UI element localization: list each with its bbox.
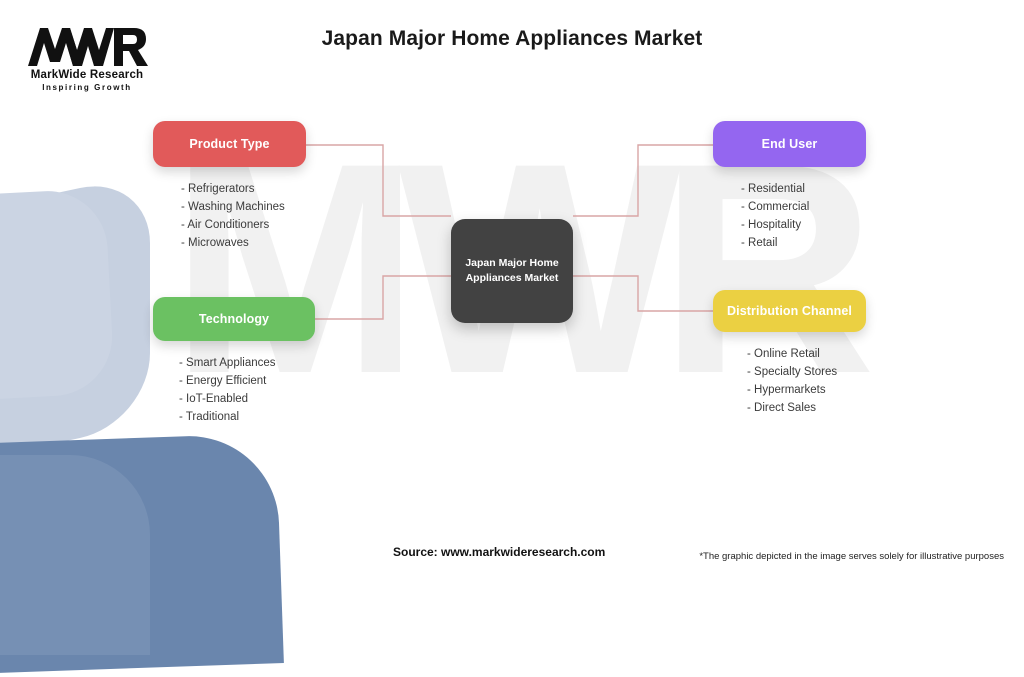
branch-technology-header[interactable]: Technology — [153, 297, 315, 341]
list-item: - Online Retail — [747, 345, 953, 363]
branch-product-type-label: Product Type — [189, 137, 269, 151]
page-title: Japan Major Home Appliances Market — [0, 27, 1024, 51]
branch-technology-label: Technology — [199, 312, 269, 326]
center-node[interactable]: Japan Major Home Appliances Market — [451, 219, 573, 323]
disclaimer-text: *The graphic depicted in the image serve… — [699, 551, 1004, 562]
center-node-line2: Appliances Market — [466, 272, 559, 284]
branch-distribution-channel-header[interactable]: Distribution Channel — [713, 290, 866, 332]
branch-end-user-header[interactable]: End User — [713, 121, 866, 167]
branch-product-type-header[interactable]: Product Type — [153, 121, 306, 167]
list-item: - Retail — [741, 234, 943, 252]
branch-product-type: Product Type - Refrigerators - Washing M… — [153, 121, 383, 252]
branch-distribution-channel-label: Distribution Channel — [727, 304, 852, 318]
branch-end-user-items: - Residential - Commercial - Hospitality… — [713, 180, 943, 252]
branch-distribution-channel: Distribution Channel - Online Retail - S… — [713, 290, 953, 417]
list-item: - Energy Efficient — [179, 372, 383, 390]
list-item: - Microwaves — [181, 234, 383, 252]
list-item: - Direct Sales — [747, 399, 953, 417]
source-text: Source: www.markwideresearch.com — [393, 545, 605, 559]
list-item: - Specialty Stores — [747, 363, 953, 381]
list-item: - Smart Appliances — [179, 354, 383, 372]
branch-technology-items: - Smart Appliances - Energy Efficient - … — [153, 354, 383, 426]
branch-distribution-channel-items: - Online Retail - Specialty Stores - Hyp… — [713, 345, 953, 417]
branch-end-user: End User - Residential - Commercial - Ho… — [713, 121, 943, 252]
list-item: - Hospitality — [741, 216, 943, 234]
list-item: - Hypermarkets — [747, 381, 953, 399]
list-item: - Commercial — [741, 198, 943, 216]
logo-tagline: Inspiring Growth — [22, 83, 152, 92]
list-item: - Residential — [741, 180, 943, 198]
center-node-label: Japan Major Home Appliances Market — [457, 256, 566, 286]
branch-product-type-items: - Refrigerators - Washing Machines - Air… — [153, 180, 383, 252]
list-item: - Air Conditioners — [181, 216, 383, 234]
center-node-line1: Japan Major Home — [465, 257, 558, 269]
list-item: - IoT-Enabled — [179, 390, 383, 408]
list-item: - Traditional — [179, 408, 383, 426]
connector-end-user — [573, 145, 714, 216]
branch-technology: Technology - Smart Appliances - Energy E… — [153, 297, 383, 426]
list-item: - Refrigerators — [181, 180, 383, 198]
connector-distribution-channel — [573, 276, 714, 311]
branch-end-user-label: End User — [762, 137, 818, 151]
logo-company-name: MarkWide Research — [22, 69, 152, 81]
list-item: - Washing Machines — [181, 198, 383, 216]
